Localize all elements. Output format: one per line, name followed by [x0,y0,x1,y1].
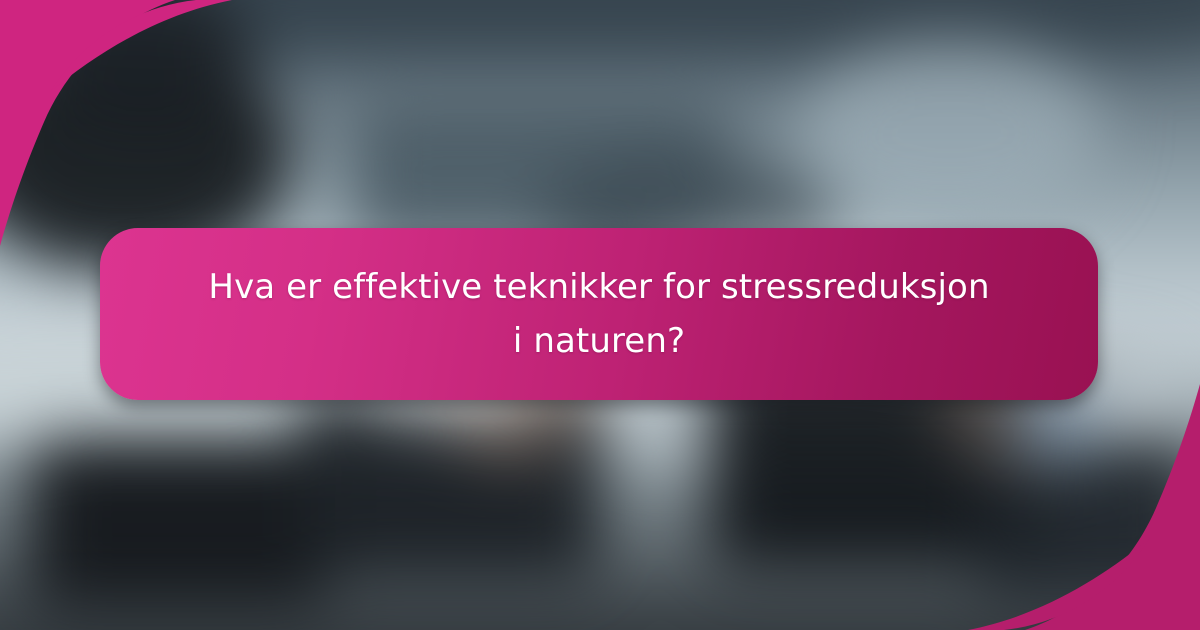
bg-shape-fg-left-chair [30,440,330,610]
bg-shape-window-light [800,40,1100,230]
question-title: Hva er effektive teknikker for stressred… [199,260,999,368]
social-card-canvas: Hva er effektive teknikker for stressred… [0,0,1200,630]
question-card: Hva er effektive teknikker for stressred… [100,228,1098,400]
